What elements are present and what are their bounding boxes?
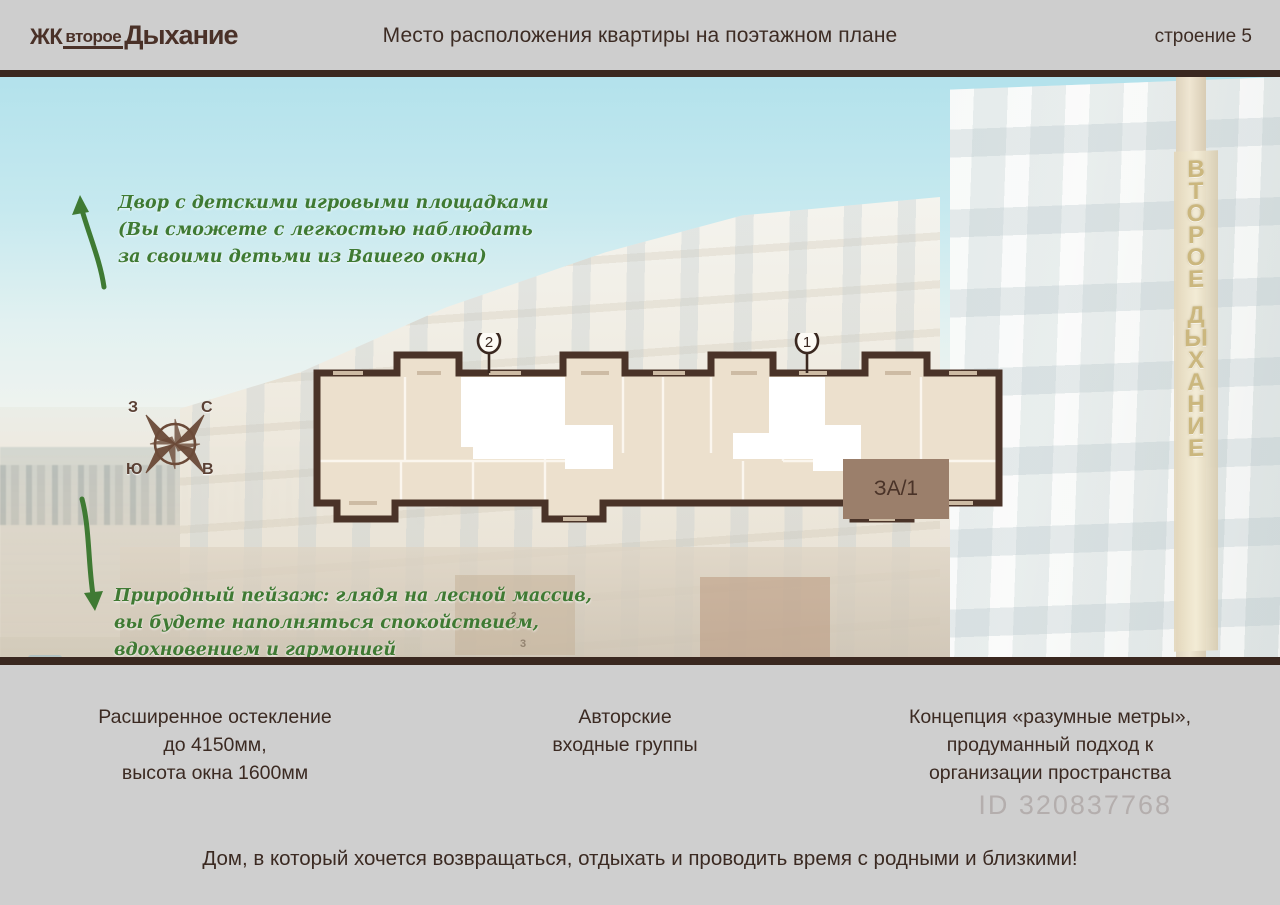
floor-plan: ЗА/1 2 1 [313, 333, 1003, 533]
entrance-marker-2-label: 2 [485, 334, 493, 351]
sign-letter: Е [1188, 438, 1204, 461]
entrance-group-b [700, 577, 830, 657]
feature-line: организации пространства [820, 759, 1280, 787]
feature-line: продуманный подход к [820, 731, 1280, 759]
annotation-line: вдохновением и гармонией [114, 637, 592, 657]
feature-line: Расширенное остекление [0, 703, 430, 731]
annotation-line: вы будете наполняться спокойствием, [114, 610, 592, 637]
feature-concept: Концепция «разумные метры», продуманный … [820, 703, 1280, 787]
compass-rose-icon [144, 413, 206, 475]
entrance-marker-1[interactable]: 1 [796, 333, 818, 373]
feature-line: до 4150мм, [0, 731, 430, 759]
compass-label-south: Ю [126, 461, 143, 479]
entrance-marker-1-label: 1 [803, 334, 811, 351]
arrow-down-icon [64, 495, 112, 625]
building-vertical-sign: В Т О Р О Е Д Ы Х А Н И Е [1174, 150, 1218, 652]
photo-panel: 3 4 2 В Т О Р О Е Д Ы Х [0, 77, 1280, 657]
compass-rose: З С Ю В [128, 397, 224, 487]
header-divider [0, 70, 1280, 77]
feature-glazing: Расширенное остекление до 4150мм, высота… [0, 703, 430, 787]
feature-list: Расширенное остекление до 4150мм, высота… [0, 703, 1280, 787]
feature-line: входные группы [430, 731, 820, 759]
floor-plan-svg: ЗА/1 2 1 [313, 333, 1003, 533]
feature-line: высота окна 1600мм [0, 759, 430, 787]
feature-entrance-groups: Авторские входные группы [430, 703, 820, 787]
page-header: ЖКвтороеДыхание Место расположения кварт… [0, 0, 1280, 70]
annotation-line: за своими детьми из Вашего окна) [118, 244, 549, 271]
photo-bottom-divider [0, 657, 1280, 665]
entrance-marker-2[interactable]: 2 [478, 333, 500, 373]
footer-tagline: Дом, в который хочется возвращаться, отд… [0, 847, 1280, 871]
annotation-line: Природный пейзаж: глядя на лесной массив… [114, 583, 592, 610]
brochure-page: ЖКвтороеДыхание Место расположения кварт… [0, 0, 1280, 905]
arrow-up-icon [66, 181, 114, 291]
building-number: строение 5 [1155, 26, 1252, 48]
feature-line: Авторские [430, 703, 820, 731]
apartment-label: ЗА/1 [874, 477, 918, 500]
feature-line: Концепция «разумные метры», [820, 703, 1280, 731]
annotation-line: (Вы сможете с легкостью наблюдать [118, 217, 549, 244]
page-title: Место расположения квартиры на поэтажном… [0, 24, 1280, 48]
page-footer: Расширенное остекление до 4150мм, высота… [0, 665, 1280, 905]
annotation-line: Двор с детскими игровыми площадками [118, 190, 549, 217]
annotation-nature: Природный пейзаж: глядя на лесной массив… [114, 583, 592, 657]
sign-letter: Е [1188, 269, 1204, 292]
annotation-courtyard: Двор с детскими игровыми площадками (Вы … [118, 190, 549, 271]
compass-label-west: З [128, 399, 138, 417]
